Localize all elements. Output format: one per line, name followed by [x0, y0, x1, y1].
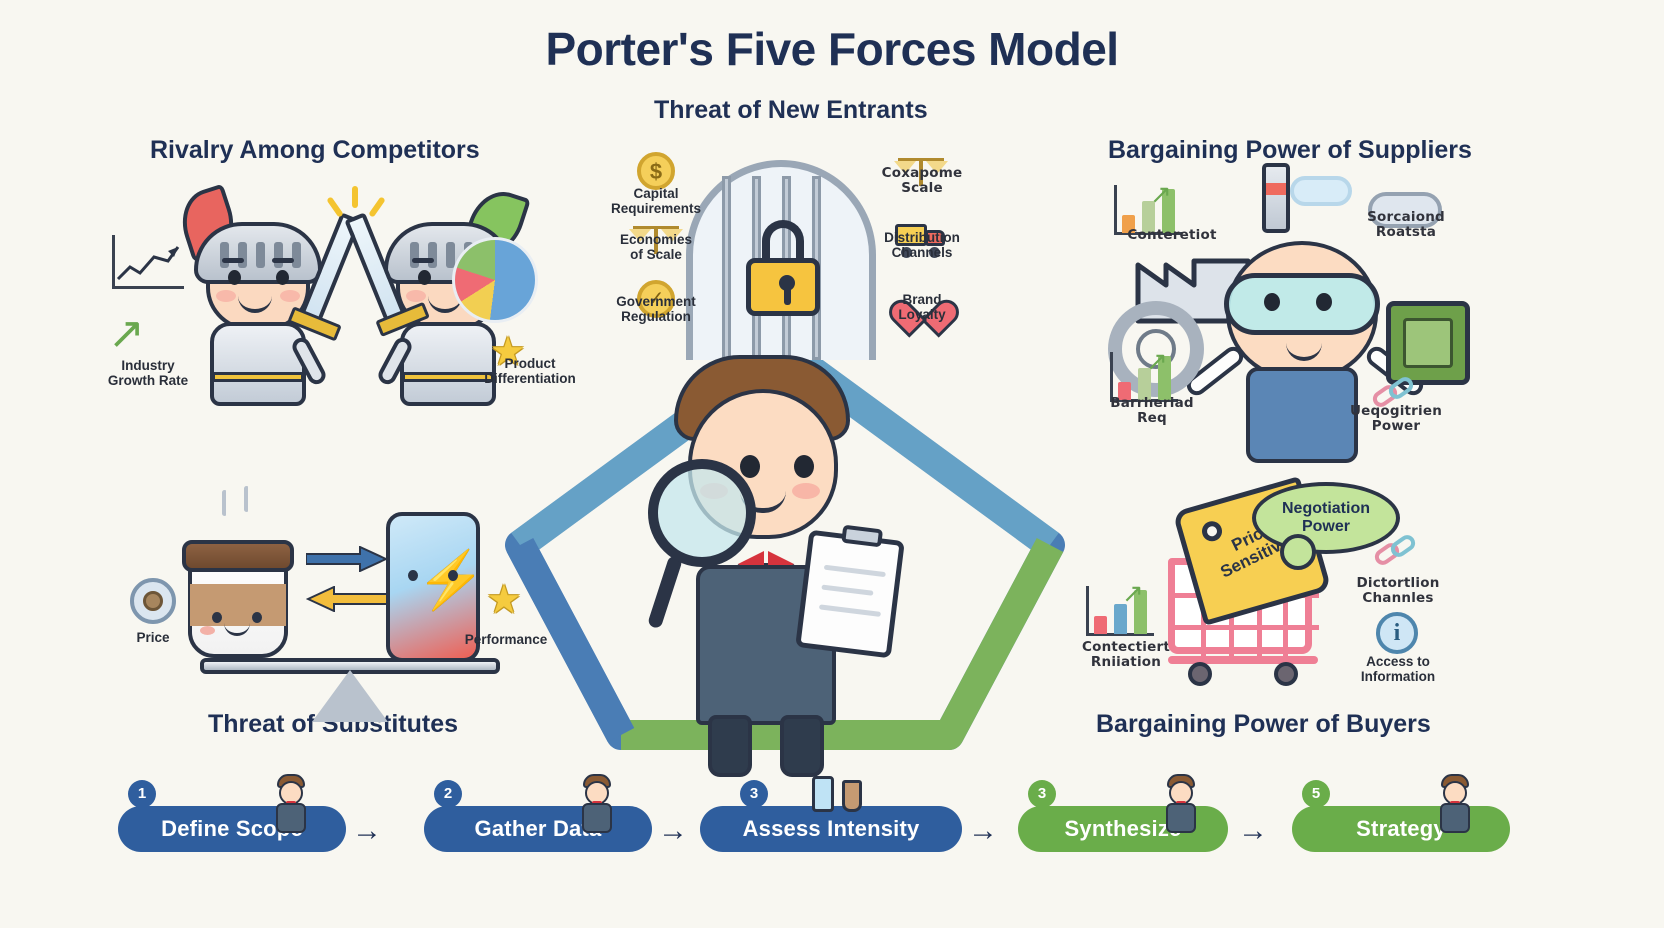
swap-arrow-left-icon: [306, 586, 388, 612]
flow-arrow-icon: →: [352, 816, 382, 846]
padlock-icon: [746, 258, 820, 316]
label-switching-cost: Barrheriad Req: [1092, 396, 1212, 426]
heading-suppliers: Bargaining Power of Suppliers: [1108, 136, 1472, 165]
gold-coin-icon: $: [637, 152, 675, 190]
mini-analyst-icon: [268, 774, 314, 836]
swap-arrow-right-icon: [306, 546, 388, 572]
clash-spark-icon: [352, 186, 358, 208]
steam-icon: [244, 486, 249, 512]
mini-analyst-icon: [574, 774, 620, 836]
magnifying-glass-icon: [648, 459, 756, 567]
label-government-regulation: Government Regulation: [596, 294, 716, 324]
flow-arrow-icon: →: [968, 816, 998, 846]
heading-new-entrants: Threat of New Entrants: [654, 96, 928, 125]
label-economies-of-scale: Economies of Scale: [596, 232, 716, 262]
clipboard-icon: [795, 530, 905, 659]
chimney-icon: [1262, 163, 1290, 233]
label-brand-loyalty: Brand Loyalty: [862, 292, 982, 322]
clash-spark-icon: [326, 196, 344, 217]
flow-arrow-icon: →: [1238, 816, 1268, 846]
step-pill-assess-intensity[interactable]: Assess Intensity: [700, 806, 962, 852]
chain-link-icon: [1374, 538, 1418, 572]
cloud-icon: [1290, 176, 1352, 206]
microchip-icon: [1386, 301, 1470, 385]
star-icon: ★: [486, 580, 522, 620]
label-distribution-channels-buyers: Dictortlion Channles: [1338, 576, 1458, 606]
step-number-5: 5: [1302, 780, 1330, 808]
coffee-cup-character: [182, 534, 294, 658]
green-up-arrow-icon: ↗: [108, 312, 145, 356]
heading-buyers: Bargaining Power of Buyers: [1096, 710, 1431, 739]
safety-goggles-icon: [1224, 273, 1380, 335]
step-number-2: 2: [434, 780, 462, 808]
analyst-character: [612, 355, 922, 785]
steam-icon: [222, 490, 227, 516]
lightning-bolt-icon: ⚡: [416, 552, 480, 608]
label-product-differentiation: Product Differentiation: [470, 356, 590, 386]
pie-chart-icon: [452, 237, 538, 323]
infographic-canvas: Porter's Five Forces Model Rivalry Among…: [0, 0, 1664, 928]
step-number-4: 3: [1028, 780, 1056, 808]
bar-chart-up-icon: ↗: [1082, 586, 1156, 644]
label-distribution-channels: Distribution Channels: [862, 230, 982, 260]
coin-stack-icon: [130, 578, 176, 624]
step-number-3: 3: [740, 780, 768, 808]
info-circle-icon: i: [1376, 612, 1418, 654]
heading-rivalry: Rivalry Among Competitors: [150, 136, 480, 165]
mini-analyst-icon: [1158, 774, 1204, 836]
label-performance: Performance: [446, 632, 566, 647]
process-flow-bar: 1 Define Scope → 2 Gather Data → 3 Asses…: [0, 780, 1664, 900]
label-economies-scale-right: Coxapome Scale: [862, 166, 982, 196]
line-chart-icon: [108, 235, 186, 297]
label-capital-requirements: Capital Requirements: [596, 186, 716, 216]
mini-analyst-icon: [1432, 774, 1478, 836]
step-number-1: 1: [128, 780, 156, 808]
page-title: Porter's Five Forces Model: [0, 22, 1664, 76]
seesaw-fulcrum: [312, 670, 388, 722]
flow-arrow-icon: →: [658, 816, 688, 846]
label-access-to-information: Access to Information: [1338, 654, 1458, 684]
label-negotiation-power-suppliers: Ueqogitrien Power: [1336, 404, 1456, 434]
